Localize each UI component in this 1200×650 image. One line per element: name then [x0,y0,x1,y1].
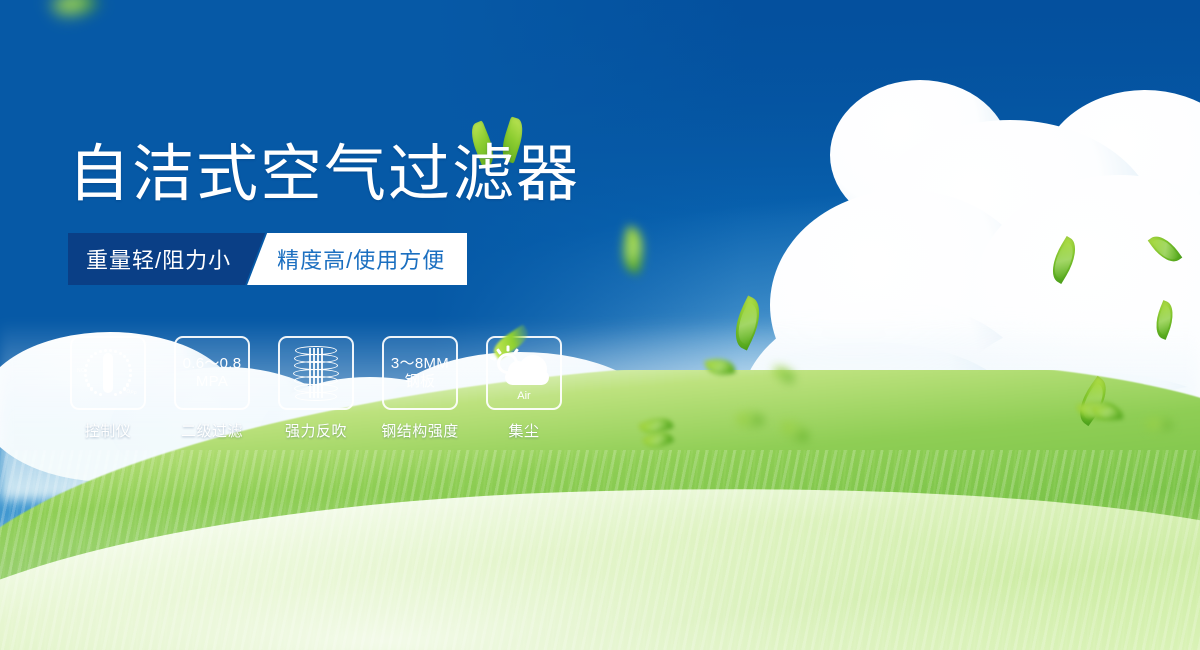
feature-label: 强力反吹 [285,420,347,441]
feature-label: 控制仪 [85,420,132,441]
dial-tick [85,364,88,367]
dial-tick [123,355,126,358]
dial-tick [87,383,90,386]
feature-item-steel[interactable]: 3～8MM 钢板 钢结构强度 [382,336,458,441]
dial-tick [94,352,97,355]
dial-tick [128,379,131,382]
feature-icon-box: 0.6～0.8 MPA [174,336,250,410]
dial-tick [109,349,112,352]
air-caption: Air [495,390,553,402]
feature-item-pressure[interactable]: 0.6～0.8 MPA 二级过滤 [174,336,250,441]
control-dial-icon: NO OFF [78,344,138,402]
product-hero-banner: 自洁式空气过滤器 重量轻/阻力小 精度高/使用方便 NO OFF 控制仪 0.6… [0,0,1200,650]
dial-tick [99,350,102,353]
steel-line-2: 钢板 [391,373,449,391]
dial-label-off: OFF [125,389,137,398]
dial-tick [128,364,131,367]
feature-list: NO OFF 控制仪 0.6～0.8 MPA 二级过滤 强力反吹 [70,336,562,441]
dial-tick [84,369,87,372]
coil-bar [309,348,311,398]
steel-plate-text-icon: 3～8MM 钢板 [391,355,449,392]
coil-filter-icon [293,346,339,400]
dial-tick [119,352,122,355]
steel-line-1: 3～8MM [391,355,449,373]
dial-tick [119,391,122,394]
dial-tick [94,391,97,394]
tagline-right: 精度高/使用方便 [247,233,467,285]
dial-tick [114,393,117,396]
pressure-line-2: MPA [183,373,242,391]
feature-icon-box [278,336,354,410]
dial-tick [126,359,129,362]
feature-icon-box: 3～8MM 钢板 [382,336,458,410]
dial-tick [90,387,93,390]
dial-tick [85,379,88,382]
feature-item-control-dial[interactable]: NO OFF 控制仪 [70,336,146,441]
tagline-left: 重量轻/阻力小 [68,233,265,285]
dial-tick [129,369,132,372]
coil-ring [295,392,337,401]
pressure-line-1: 0.6～0.8 [183,355,242,373]
feature-item-backblow[interactable]: 强力反吹 [278,336,354,441]
sun-ray-icon [506,346,509,352]
dial-tick [90,355,93,358]
dial-tick [126,383,129,386]
feature-item-dust[interactable]: Air 集尘 [486,336,562,441]
dial-tick [87,359,90,362]
feature-icon-box: Air [486,336,562,410]
coil-bar [317,348,319,398]
coil-bar [321,348,323,398]
cloud-sun-air-icon: Air [495,346,553,400]
dial-tick [114,350,117,353]
pressure-text-icon: 0.6～0.8 MPA [183,355,242,392]
sun-ray-icon [490,356,497,361]
dial-tick [123,387,126,390]
tagline-group: 重量轻/阻力小 精度高/使用方便 [68,233,467,285]
feature-label: 二级过滤 [181,420,243,441]
dial-tick [84,374,87,377]
coil-bar [313,348,315,398]
feature-icon-box: NO OFF [70,336,146,410]
page-title: 自洁式空气过滤器 [68,143,580,205]
feature-label: 钢结构强度 [381,420,459,441]
dial-tick [99,393,102,396]
feature-label: 集尘 [508,420,539,441]
dial-tick [129,374,132,377]
grass-highlight [0,480,1200,650]
dial-tick [104,349,107,352]
